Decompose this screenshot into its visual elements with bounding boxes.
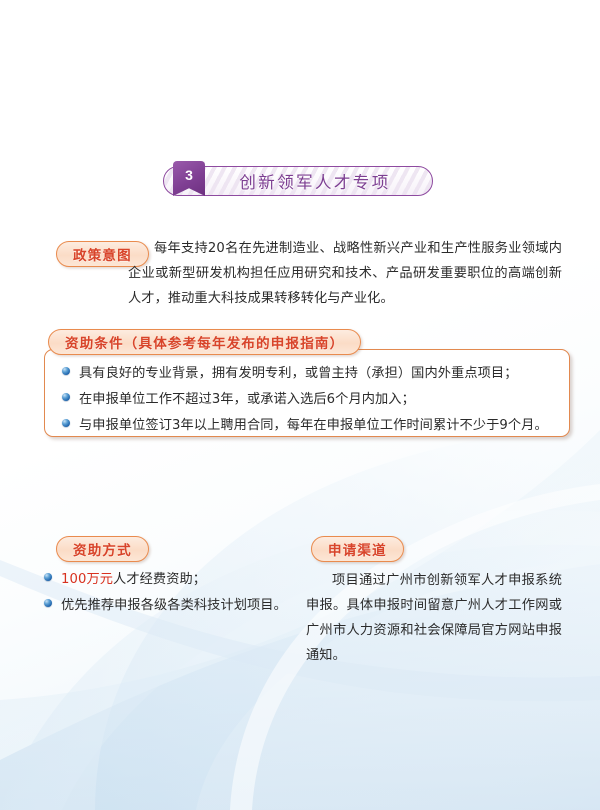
list-item-text: 具有良好的专业背景，拥有发明专利，或曾主持（承担）国内外重点项目；: [79, 362, 517, 386]
list-item: 在申报单位工作不超过3年，或承诺入选后6个月内加入；: [62, 388, 562, 412]
funding-conditions-list: 具有良好的专业背景，拥有发明专利，或曾主持（承担）国内外重点项目； 在申报单位工…: [62, 362, 562, 440]
list-item-text: 与申报单位签订3年以上聘用合同，每年在申报单位工作时间累计不少于9个月。: [79, 414, 548, 438]
list-item: 优先推荐申报各级各类科技计划项目。: [44, 594, 304, 618]
funding-method-list: 100万元人才经费资助； 优先推荐申报各级各类科技计划项目。: [44, 568, 304, 620]
policy-intent-body: 每年支持20名在先进制造业、战略性新兴产业和生产性服务业领域内企业或新型研发机构…: [128, 236, 562, 311]
list-item-rest: 人才经费资助；: [113, 572, 206, 587]
list-item-text: 优先推荐申报各级各类科技计划项目。: [61, 594, 287, 618]
funding-method-label-wrap: 资助方式: [56, 536, 149, 562]
application-channel-label: 申请渠道: [311, 536, 404, 562]
bullet-sphere-icon: [62, 393, 70, 401]
list-item-text: 100万元人才经费资助；: [61, 568, 206, 592]
bullet-sphere-icon: [44, 599, 52, 607]
bullet-sphere-icon: [44, 573, 52, 581]
section-header: 创新领军人才专项 3: [163, 166, 435, 198]
list-item: 100万元人才经费资助；: [44, 568, 304, 592]
funding-conditions-label-wrap: 资助条件（具体参考每年发布的申报指南）: [48, 329, 361, 355]
amount-highlight: 100万元: [61, 572, 113, 587]
bullet-sphere-icon: [62, 419, 70, 427]
bullet-sphere-icon: [62, 367, 70, 375]
funding-method-label: 资助方式: [56, 536, 149, 562]
application-channel-label-wrap: 申请渠道: [311, 536, 404, 562]
document-page: 创新领军人才专项 3 政策意图 每年支持20名在先进制造业、战略性新兴产业和生产…: [0, 0, 600, 810]
list-item: 与申报单位签订3年以上聘用合同，每年在申报单位工作时间累计不少于9个月。: [62, 414, 562, 438]
funding-conditions-label: 资助条件（具体参考每年发布的申报指南）: [48, 329, 361, 355]
list-item-text: 在申报单位工作不超过3年，或承诺入选后6个月内加入；: [79, 388, 415, 412]
application-channel-body: 项目通过广州市创新领军人才申报系统申报。具体申报时间留意广州人才工作网或广州市人…: [306, 568, 562, 668]
section-number-label: 3: [185, 167, 193, 183]
list-item: 具有良好的专业背景，拥有发明专利，或曾主持（承担）国内外重点项目；: [62, 362, 562, 386]
